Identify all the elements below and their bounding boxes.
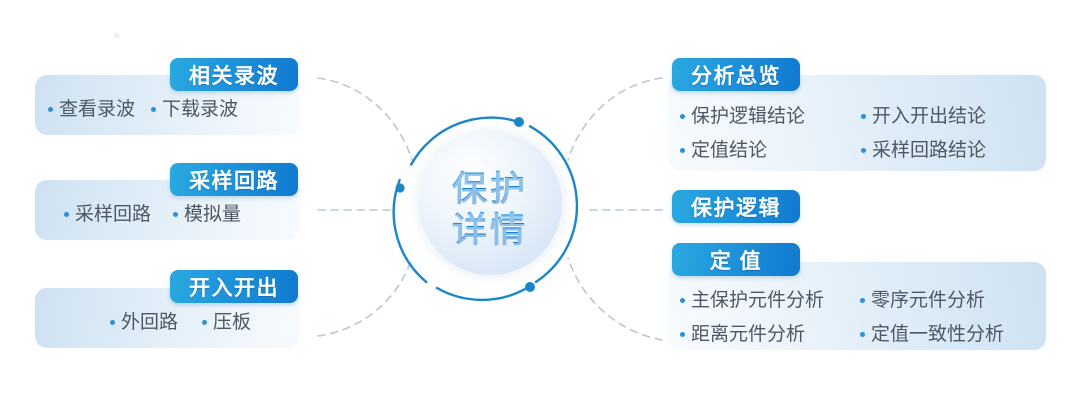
badge-related-waveform[interactable]: 相关录波 [170, 58, 298, 91]
list-item[interactable]: 距离元件分析 [680, 321, 824, 349]
protection-detail-hub[interactable]: 保护 详情 [390, 100, 590, 320]
bullet-icon [64, 212, 69, 217]
items-related-waveform: 查看录波 下载录波 [48, 96, 238, 124]
list-item[interactable]: 下载录波 [151, 96, 238, 124]
bullet-icon [680, 332, 685, 337]
list-item-label: 开入开出结论 [872, 103, 986, 131]
list-item-label: 定值结论 [691, 137, 767, 165]
list-item[interactable]: 模拟量 [173, 201, 241, 229]
bullet-icon [48, 107, 53, 112]
list-item[interactable]: 保护逻辑结论 [680, 103, 805, 131]
bullet-icon [860, 298, 865, 303]
list-item-label: 下载录波 [162, 96, 238, 124]
list-item-label: 采样回路结论 [872, 137, 986, 165]
bullet-icon [680, 298, 685, 303]
list-item-label: 模拟量 [184, 201, 241, 229]
infographic-canvas: 保护 详情 相关录波 查看录波 下载录波 采样回路 采样回路 模拟量 开入开出 [0, 0, 1080, 417]
bullet-icon [151, 107, 156, 112]
list-item-label: 保护逻辑结论 [691, 103, 805, 131]
list-item-label: 定值一致性分析 [871, 321, 1004, 349]
list-item[interactable]: 查看录波 [48, 96, 135, 124]
badge-digital-io[interactable]: 开入开出 [170, 270, 298, 303]
badge-sampling-circuit[interactable]: 采样回路 [170, 163, 298, 196]
list-item-label: 主保护元件分析 [691, 287, 824, 315]
list-item[interactable]: 主保护元件分析 [680, 287, 824, 315]
badge-analysis-overview[interactable]: 分析总览 [672, 58, 800, 91]
list-item[interactable]: 外回路 [110, 309, 178, 337]
items-digital-io: 外回路 压板 [110, 309, 251, 337]
list-item-label: 距离元件分析 [691, 321, 805, 349]
list-item-label: 查看录波 [59, 96, 135, 124]
list-item-label: 采样回路 [75, 201, 151, 229]
bullet-icon [202, 320, 207, 325]
list-item-label: 外回路 [121, 309, 178, 337]
list-item[interactable]: 定值结论 [680, 137, 805, 165]
list-item[interactable]: 定值一致性分析 [860, 321, 1004, 349]
hub-circle [419, 132, 562, 275]
bullet-icon [861, 114, 866, 119]
list-item-label: 零序元件分析 [871, 287, 985, 315]
bullet-icon [680, 148, 685, 153]
bullet-icon [110, 320, 115, 325]
bullet-icon [860, 332, 865, 337]
list-item[interactable]: 零序元件分析 [860, 287, 1004, 315]
items-sampling-circuit: 采样回路 模拟量 [64, 201, 241, 229]
badge-protection-logic[interactable]: 保护逻辑 [672, 190, 800, 223]
list-item[interactable]: 开入开出结论 [861, 103, 986, 131]
items-analysis-overview: 保护逻辑结论 开入开出结论 定值结论 采样回路结论 [680, 103, 986, 164]
bullet-icon [680, 114, 685, 119]
list-item[interactable]: 压板 [202, 309, 251, 337]
list-item[interactable]: 采样回路结论 [861, 137, 986, 165]
bullet-icon [173, 212, 178, 217]
badge-setting-value[interactable]: 定 值 [672, 243, 800, 276]
list-item-label: 压板 [213, 309, 251, 337]
bullet-icon [861, 148, 866, 153]
list-item[interactable]: 采样回路 [64, 201, 151, 229]
items-setting-value: 主保护元件分析 零序元件分析 距离元件分析 定值一致性分析 [680, 287, 1004, 348]
